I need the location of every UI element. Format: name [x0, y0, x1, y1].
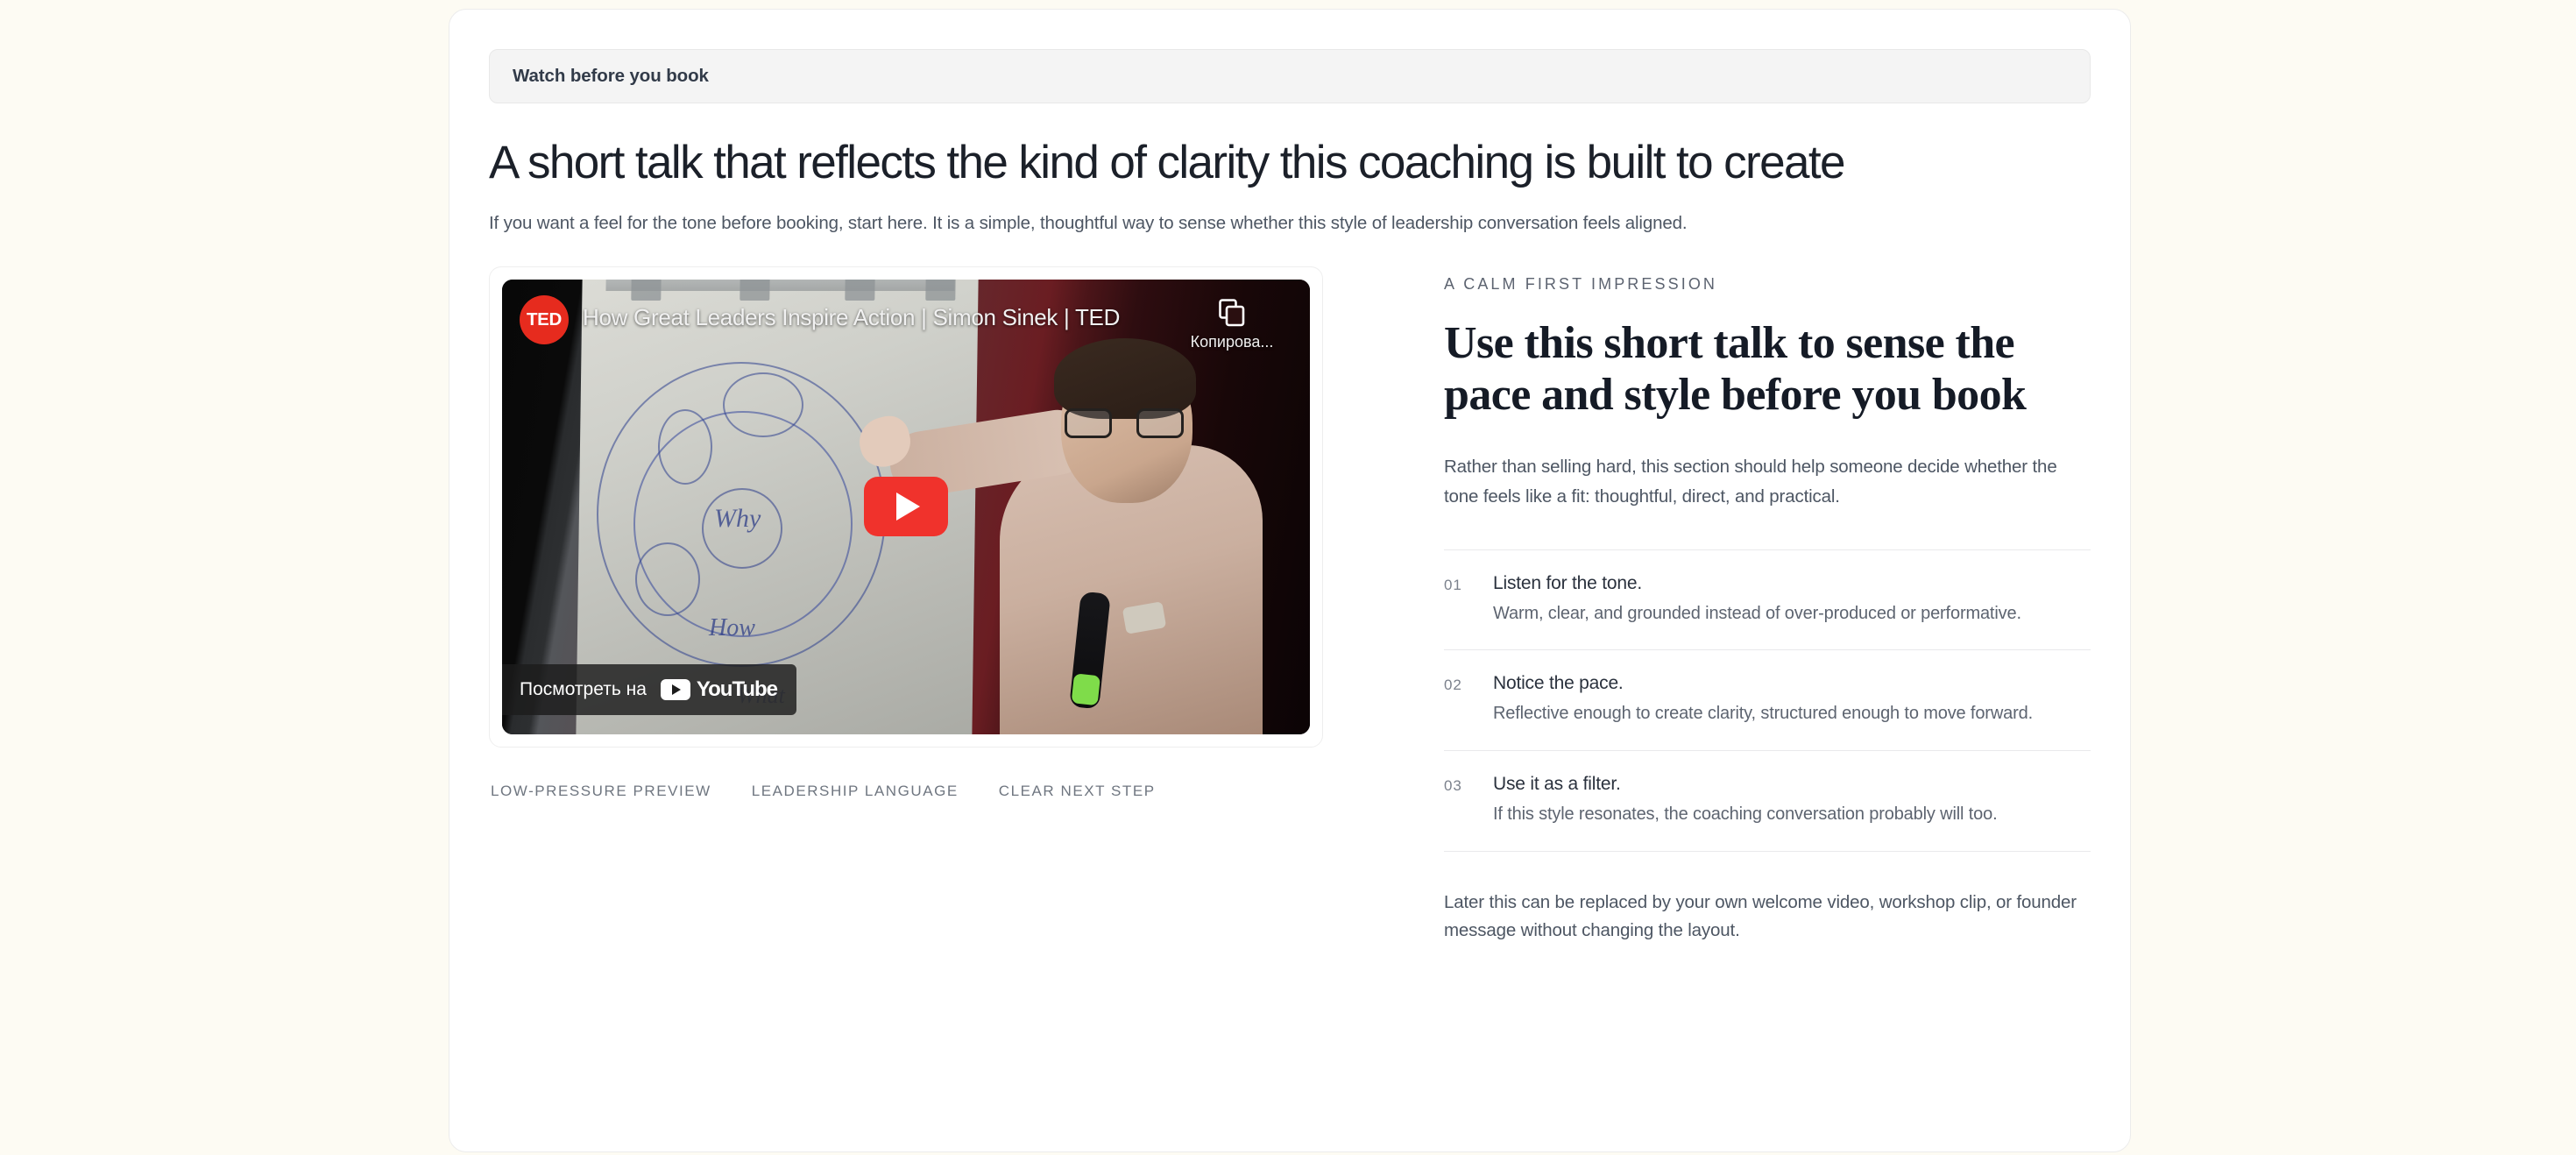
- play-button[interactable]: [864, 477, 948, 536]
- list-item-title: Notice the pace.: [1493, 673, 2091, 694]
- watch-on-youtube-button[interactable]: Посмотреть на YouTube: [502, 664, 796, 715]
- list-item-number: 01: [1444, 573, 1493, 627]
- list-item-content: Use it as a filter. If this style resona…: [1493, 774, 2091, 828]
- page-subtitle: If you want a feel for the tone before b…: [489, 210, 1996, 237]
- sketch-bubble-icon: [658, 409, 712, 485]
- list-item-content: Listen for the tone. Warm, clear, and gr…: [1493, 573, 2091, 627]
- board-word-how: How: [709, 614, 755, 642]
- ted-logo-icon: TED: [520, 295, 569, 344]
- numbered-list: 01 Listen for the tone. Warm, clear, and…: [1444, 549, 2091, 852]
- section-heading: Use this short talk to sense the pace an…: [1444, 318, 2091, 422]
- content-card: Watch before you book A short talk that …: [449, 9, 2131, 1152]
- section-kicker: A CALM FIRST IMPRESSION: [1444, 275, 2091, 294]
- section-footnote: Later this can be replaced by your own w…: [1444, 889, 2091, 945]
- card-inner: Watch before you book A short talk that …: [449, 10, 2130, 945]
- board-clip-icon: [845, 280, 874, 301]
- section-eyebrow-bar: Watch before you book: [489, 49, 2091, 103]
- video-embed[interactable]: Why How What: [502, 280, 1310, 734]
- youtube-play-mark-icon: [661, 679, 690, 700]
- speaker-glasses-icon: [1065, 408, 1184, 440]
- list-item-content: Notice the pace. Reflective enough to cr…: [1493, 673, 2091, 727]
- youtube-logo-icon: YouTube: [661, 677, 777, 702]
- list-item: 01 Listen for the tone. Warm, clear, and…: [1444, 549, 2091, 650]
- youtube-wordmark: YouTube: [697, 677, 777, 702]
- video-title[interactable]: How Great Leaders Inspire Action | Simon…: [583, 304, 1120, 331]
- list-item-description: Reflective enough to create clarity, str…: [1493, 701, 2091, 727]
- watch-on-label: Посмотреть на: [520, 679, 647, 700]
- section-body: Rather than selling hard, this section s…: [1444, 452, 2091, 510]
- board-clip-icon: [925, 280, 955, 301]
- sketch-bubble-icon: [723, 372, 803, 437]
- board-clip-icon: [740, 280, 769, 301]
- copy-link-button[interactable]: Копирова...: [1180, 299, 1284, 351]
- copy-icon: [1219, 299, 1245, 327]
- board-clip-icon: [631, 280, 661, 301]
- two-column-layout: Why How What: [489, 266, 2091, 945]
- list-item-title: Listen for the tone.: [1493, 573, 2091, 594]
- tag-item: CLEAR NEXT STEP: [999, 783, 1156, 800]
- list-item: 02 Notice the pace. Reflective enough to…: [1444, 649, 2091, 750]
- tag-item: LOW-PRESSURE PREVIEW: [491, 783, 711, 800]
- left-column: Why How What: [489, 266, 1381, 945]
- video-frame: Why How What: [489, 266, 1323, 748]
- tag-list: LOW-PRESSURE PREVIEW LEADERSHIP LANGUAGE…: [489, 783, 1381, 800]
- sketch-bubble-icon: [635, 542, 700, 616]
- section-eyebrow-label: Watch before you book: [513, 66, 709, 87]
- list-item: 03 Use it as a filter. If this style res…: [1444, 750, 2091, 852]
- right-column: A CALM FIRST IMPRESSION Use this short t…: [1381, 266, 2091, 945]
- list-item-description: Warm, clear, and grounded instead of ove…: [1493, 601, 2091, 627]
- list-item-number: 03: [1444, 774, 1493, 828]
- page-root: Watch before you book A short talk that …: [0, 0, 2576, 1155]
- tag-item: LEADERSHIP LANGUAGE: [752, 783, 959, 800]
- speaker-hair: [1054, 338, 1196, 419]
- list-item-title: Use it as a filter.: [1493, 774, 2091, 795]
- speaker-figure: [970, 322, 1285, 734]
- copy-link-label: Копирова...: [1191, 333, 1274, 351]
- page-title: A short talk that reflects the kind of c…: [489, 138, 2066, 188]
- ted-logo-label: TED: [527, 309, 562, 330]
- board-word-why: Why: [714, 504, 761, 534]
- list-item-number: 02: [1444, 673, 1493, 727]
- list-item-description: If this style resonates, the coaching co…: [1493, 802, 2091, 828]
